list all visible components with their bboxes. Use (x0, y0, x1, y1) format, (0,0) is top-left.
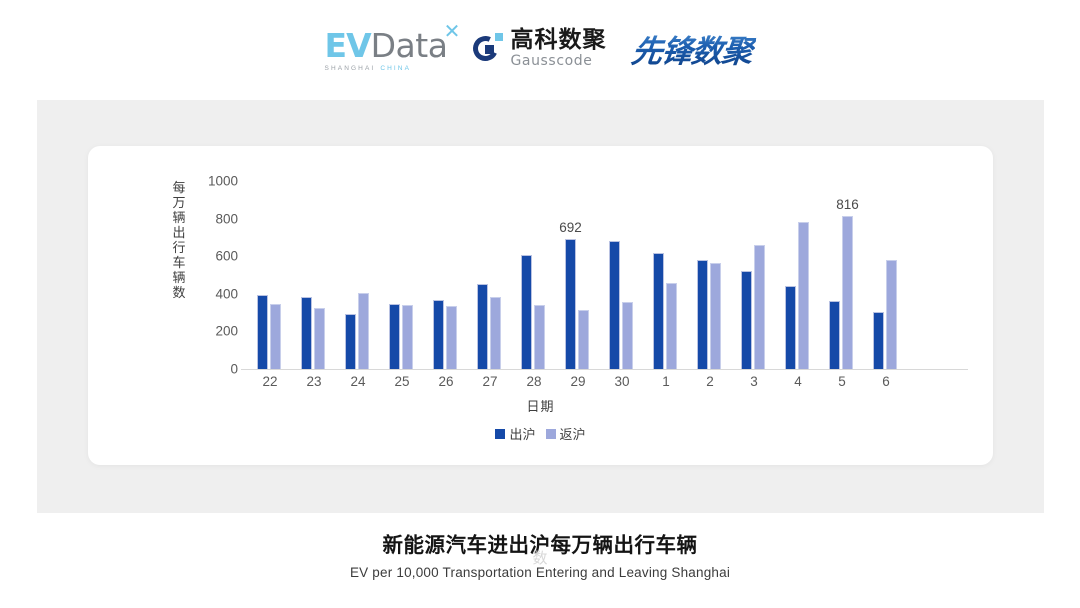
bar-back[interactable] (798, 222, 809, 369)
bar-back[interactable] (578, 310, 589, 369)
y-axis-title: 每万辆出行车辆数 (170, 181, 188, 301)
x-axis-tick-label: 29 (556, 374, 600, 389)
bar-back[interactable] (314, 308, 325, 369)
bar-out[interactable] (345, 314, 356, 369)
y-axis-tick-label: 800 (215, 211, 238, 226)
bar-out[interactable] (873, 312, 884, 369)
gausscode-logo-icon (473, 33, 503, 63)
bar-out[interactable] (389, 304, 400, 369)
y-axis-tick-label: 1000 (208, 174, 238, 189)
x-axis-tick-label: 23 (292, 374, 336, 389)
bar-back[interactable] (446, 306, 457, 369)
x-axis-tick-label: 22 (248, 374, 292, 389)
legend-swatch-icon (546, 429, 556, 439)
caption-title: 新能源汽车进出沪每万辆出行车辆 (0, 528, 1080, 558)
bar-group (512, 181, 556, 369)
x-mark-icon: ✕ (444, 22, 461, 42)
xianfeng-logo: 先锋数聚 (630, 26, 759, 71)
bar-out[interactable] (785, 286, 796, 369)
plot-area: 692816 (248, 181, 968, 369)
x-axis-tick-label: 27 (468, 374, 512, 389)
evdata-tagline-country: CHINA (380, 65, 411, 72)
y-axis-tick-label: 200 (215, 324, 238, 339)
bar-out[interactable]: 692 (565, 239, 576, 369)
legend-label: 返沪 (560, 424, 586, 443)
x-axis-ticks: 222324252627282930123456 (248, 374, 968, 394)
bar-out[interactable] (653, 253, 664, 369)
x-axis-line (241, 369, 968, 370)
bar-back[interactable] (270, 304, 281, 369)
x-axis-tick-label: 5 (820, 374, 864, 389)
bar-out[interactable] (829, 301, 840, 369)
bar-group (644, 181, 688, 369)
bar-chart: 每万辆出行车辆数 02004006008001000 692816 222324… (88, 146, 993, 465)
bar-group (424, 181, 468, 369)
logo-bar: EV Data ✕ SHANGHAI CHINA 高科数聚 Gausscode … (0, 0, 1080, 96)
bar-group: 692 (556, 181, 600, 369)
y-axis-tick-label: 0 (230, 362, 238, 377)
gausscode-en-text: Gausscode (510, 54, 606, 68)
bar-out[interactable] (609, 241, 620, 369)
x-axis-tick-label: 4 (776, 374, 820, 389)
bar-out[interactable] (257, 295, 268, 369)
evdata-tagline: SHANGHAI CHINA (325, 65, 412, 72)
chart-legend: 出沪返沪 (88, 424, 993, 443)
x-axis-tick-label: 26 (424, 374, 468, 389)
x-axis-tick-label: 30 (600, 374, 644, 389)
evdata-logo: EV Data ✕ SHANGHAI CHINA (325, 25, 448, 72)
bar-group (468, 181, 512, 369)
bar-value-label: 816 (836, 197, 859, 212)
x-axis-tick-label: 1 (644, 374, 688, 389)
y-axis-tick-label: 600 (215, 249, 238, 264)
gausscode-wordmark: 高科数聚 Gausscode (510, 29, 606, 68)
bar-back[interactable] (534, 305, 545, 369)
caption-block: 新能源汽车进出沪每万辆出行车辆 数 EV per 10,000 Transpor… (0, 528, 1080, 580)
y-axis-tick-label: 400 (215, 286, 238, 301)
bar-back[interactable] (490, 297, 501, 369)
bar-out[interactable] (433, 300, 444, 369)
bar-group (864, 181, 908, 369)
bar-back[interactable] (886, 260, 897, 369)
bar-group (600, 181, 644, 369)
x-axis-tick-label: 6 (864, 374, 908, 389)
evdata-ev-text: EV (325, 29, 371, 62)
bar-out[interactable] (741, 271, 752, 369)
evdata-wordmark: EV Data ✕ (325, 29, 448, 62)
bar-out[interactable] (521, 255, 532, 369)
y-axis-ticks: 02004006008001000 (190, 146, 238, 465)
bar-back[interactable] (666, 283, 677, 369)
bar-group (292, 181, 336, 369)
bar-out[interactable] (477, 284, 488, 369)
x-axis-tick-label: 24 (336, 374, 380, 389)
x-axis-tick-label: 2 (688, 374, 732, 389)
x-axis-tick-label: 25 (380, 374, 424, 389)
x-axis-title: 日期 (88, 396, 993, 415)
evdata-tagline-city: SHANGHAI (325, 65, 376, 72)
bar-group (776, 181, 820, 369)
bar-back[interactable] (754, 245, 765, 369)
caption-subtitle: EV per 10,000 Transportation Entering an… (0, 565, 1080, 580)
bar-back[interactable] (622, 302, 633, 369)
bar-out[interactable] (301, 297, 312, 369)
bar-back[interactable] (358, 293, 369, 369)
bar-group (336, 181, 380, 369)
bar-group (732, 181, 776, 369)
evdata-data-text: Data (371, 29, 448, 62)
legend-swatch-icon (495, 429, 505, 439)
x-axis-tick-label: 28 (512, 374, 556, 389)
legend-item[interactable]: 返沪 (546, 424, 586, 443)
bar-back[interactable]: 816 (842, 216, 853, 369)
gausscode-cn-text: 高科数聚 (510, 29, 606, 52)
legend-label: 出沪 (509, 424, 535, 443)
gausscode-logo: 高科数聚 Gausscode (473, 29, 606, 68)
legend-item[interactable]: 出沪 (495, 424, 535, 443)
chart-card: 每万辆出行车辆数 02004006008001000 692816 222324… (88, 146, 993, 465)
bar-value-label: 692 (559, 220, 582, 235)
bar-back[interactable] (710, 263, 721, 369)
x-axis-tick-label: 3 (732, 374, 776, 389)
bar-group (248, 181, 292, 369)
bar-group (380, 181, 424, 369)
bar-out[interactable] (697, 260, 708, 369)
bar-group (688, 181, 732, 369)
bar-back[interactable] (402, 305, 413, 369)
bar-group: 816 (820, 181, 864, 369)
